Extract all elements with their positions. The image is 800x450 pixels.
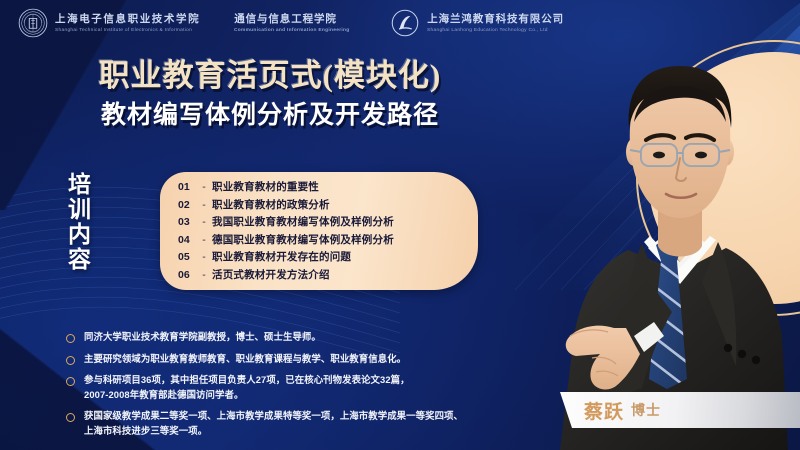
agenda-item[interactable]: 03 - 我国职业教育教材编写体例及样例分析: [178, 217, 478, 228]
agenda-item-dash: -: [196, 235, 212, 246]
logo-university-text: 上海电子信息职业技术学院 Shanghai Technical Institut…: [55, 13, 200, 32]
bio-bullet-line: 获国家级教学成果二等奖一项、上海市教学成果特等奖一项，上海市教学成果一等奖四项、: [84, 409, 463, 424]
agenda-item-label: 职业教育教材的政策分析: [212, 200, 330, 211]
agenda-item-label: 职业教育教材开发存在的问题: [212, 252, 351, 263]
bullet-ring-icon: [66, 413, 75, 422]
agenda-item-label: 我国职业教育教材编写体例及样例分析: [212, 217, 394, 228]
logo-company-text: 上海兰鸿教育科技有限公司 Shanghai Lanhong Education …: [427, 13, 564, 32]
agenda-item-dash: -: [196, 252, 212, 263]
agenda-item-number: 04: [178, 235, 196, 246]
logo-university: 上海电子信息职业技术学院 Shanghai Technical Institut…: [18, 8, 200, 38]
agenda-item-number: 06: [178, 270, 196, 281]
agenda-item-dash: -: [196, 270, 212, 281]
logo-department: 通信与信息工程学院 Communication and Information …: [234, 13, 344, 32]
presentation-slide: 上海电子信息职业技术学院 Shanghai Technical Institut…: [0, 0, 800, 450]
agenda-list: 01 - 职业教育教材的重要性 02 - 职业教育教材的政策分析 03 - 我国…: [178, 182, 478, 280]
speaker-name: 蔡跃: [584, 397, 624, 424]
logo-company: 上海兰鸿教育科技有限公司 Shanghai Lanhong Education …: [390, 8, 564, 38]
header-logo-bar: 上海电子信息职业技术学院 Shanghai Technical Institut…: [0, 0, 800, 46]
agenda-item-number: 01: [178, 182, 196, 193]
bio-bullet-text: 同济大学职业技术教育学院副教授，博士、硕士生导师。: [84, 330, 321, 345]
agenda-item-label: 德国职业教育教材编写体例及样例分析: [212, 235, 394, 246]
agenda-item-label: 活页式教材开发方法介绍: [212, 270, 330, 281]
agenda-item-dash: -: [196, 217, 212, 228]
logo-company-en: Shanghai Lanhong Education Technology Co…: [427, 26, 571, 32]
speaker-title: 博士: [631, 400, 661, 420]
bio-bullet-text: 参与科研项目36项，其中担任项目负责人27项，已在核心刊物发表论文32篇， 20…: [84, 373, 410, 402]
bio-bullet-line: 上海市科技进步三等奖一项。: [84, 424, 463, 439]
bullet-ring-icon: [66, 356, 75, 365]
agenda-item-number: 05: [178, 252, 196, 263]
logo-company-cn: 上海兰鸿教育科技有限公司: [427, 13, 564, 26]
agenda-item-dash: -: [196, 182, 212, 193]
bullet-ring-icon: [66, 377, 75, 386]
university-seal-icon: [18, 8, 48, 38]
bullet-ring-icon: [66, 334, 75, 343]
agenda-item-label: 职业教育教材的重要性: [212, 182, 319, 193]
bio-bullet-item: 同济大学职业技术教育学院副教授，博士、硕士生导师。: [66, 330, 536, 345]
lanhong-company-logo-icon: [390, 8, 420, 38]
speaker-portrait-photo: [530, 36, 800, 450]
bio-bullet-text: 获国家级教学成果二等奖一项、上海市教学成果特等奖一项，上海市教学成果一等奖四项、…: [84, 409, 463, 438]
bio-bullet-line: 同济大学职业技术教育学院副教授，博士、硕士生导师。: [84, 330, 321, 345]
agenda-item[interactable]: 01 - 职业教育教材的重要性: [178, 182, 478, 193]
title-block: 职业教育活页式(模块化) 教材编写体例分析及开发路径: [0, 58, 540, 131]
bio-bullet-line: 主要研究领域为职业教育教师教育、职业教育课程与教学、职业教育信息化。: [84, 352, 406, 367]
logo-department-text: 通信与信息工程学院 Communication and Information …: [234, 13, 344, 32]
logo-university-cn: 上海电子信息职业技术学院: [55, 13, 200, 26]
agenda-item-number: 02: [178, 200, 196, 211]
agenda-panel: 01 - 职业教育教材的重要性 02 - 职业教育教材的政策分析 03 - 我国…: [160, 172, 478, 290]
logo-department-en: Communication and Information Engineerin…: [234, 26, 350, 32]
speaker-bio-list: 同济大学职业技术教育学院副教授，博士、硕士生导师。 主要研究领域为职业教育教师教…: [66, 330, 536, 445]
bio-bullet-item: 参与科研项目36项，其中担任项目负责人27项，已在核心刊物发表论文32篇， 20…: [66, 373, 536, 402]
bio-bullet-item: 主要研究领域为职业教育教师教育、职业教育课程与教学、职业教育信息化。: [66, 352, 536, 367]
bio-bullet-line: 2007-2008年教育部赴德国访问学者。: [84, 388, 410, 403]
bio-bullet-text: 主要研究领域为职业教育教师教育、职业教育课程与教学、职业教育信息化。: [84, 352, 406, 367]
agenda-item-number: 03: [178, 217, 196, 228]
agenda-item[interactable]: 05 - 职业教育教材开发存在的问题: [178, 252, 478, 263]
logo-university-en: Shanghai Technical Institute of Electron…: [55, 26, 207, 32]
slide-title-main: 职业教育活页式(模块化): [0, 58, 540, 95]
bio-bullet-item: 获国家级教学成果二等奖一项、上海市教学成果特等奖一项，上海市教学成果一等奖四项、…: [66, 409, 536, 438]
agenda-item-dash: -: [196, 200, 212, 211]
logo-department-cn: 通信与信息工程学院: [234, 13, 344, 26]
speaker-nameplate: 蔡跃 博士: [560, 392, 800, 428]
bio-bullet-line: 参与科研项目36项，其中担任项目负责人27项，已在核心刊物发表论文32篇，: [84, 373, 410, 388]
agenda-item[interactable]: 06 - 活页式教材开发方法介绍: [178, 270, 478, 281]
agenda-item[interactable]: 04 - 德国职业教育教材编写体例及样例分析: [178, 235, 478, 246]
section-label-training-content: 培训内容: [62, 172, 91, 272]
agenda-item[interactable]: 02 - 职业教育教材的政策分析: [178, 200, 478, 211]
slide-title-sub: 教材编写体例分析及开发路径: [0, 101, 540, 131]
